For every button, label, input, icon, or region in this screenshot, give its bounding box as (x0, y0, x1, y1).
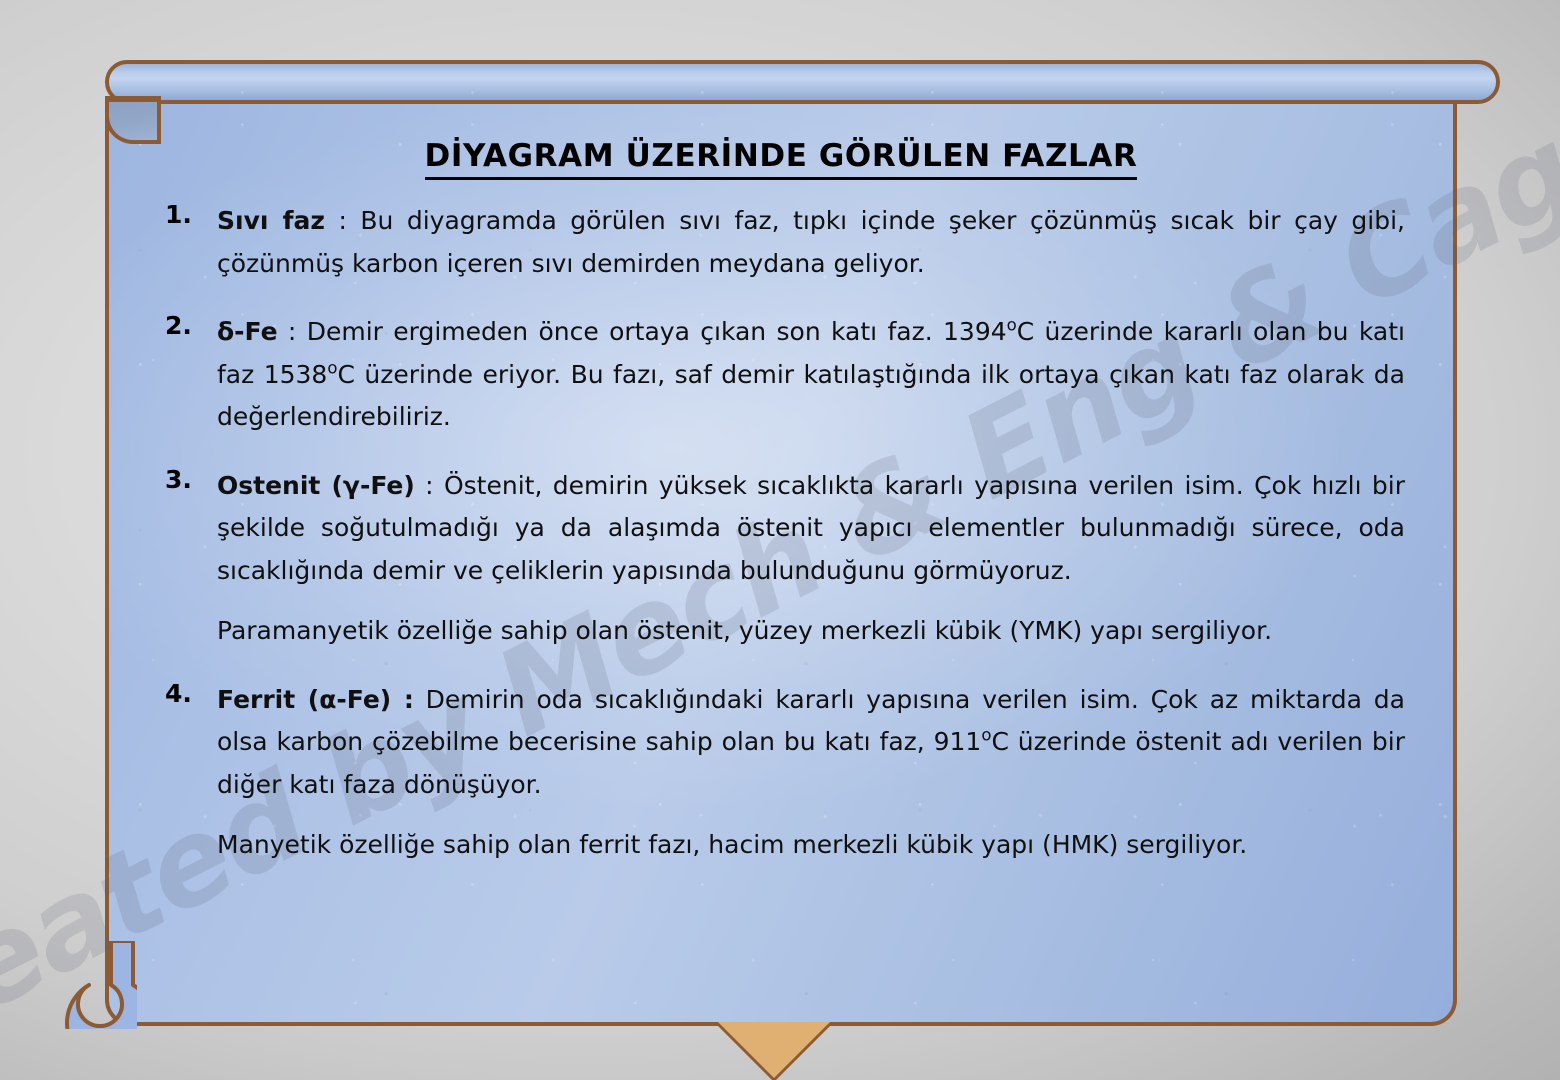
phase-term: δ-Fe (217, 317, 278, 346)
list-item-delta-fe: δ-Fe : Demir ergimeden önce ortaya çıkan… (157, 311, 1405, 439)
degree-symbol: o (1007, 316, 1017, 335)
phase-separator: : (325, 206, 360, 235)
list-item-ostenit: Ostenit (γ-Fe) : Östenit, demirin yüksek… (157, 465, 1405, 653)
degree-symbol: o (981, 726, 991, 745)
phase-list: Sıvı faz : Bu diyagramda görülen sıvı fa… (157, 200, 1405, 867)
bottom-pointer-icon (718, 1022, 830, 1078)
page-title-text: DİYAGRAM ÜZERİNDE GÖRÜLEN FAZLAR (425, 138, 1138, 180)
phase-note: Paramanyetik özelliğe sahip olan östenit… (217, 610, 1405, 653)
phase-body: Bu diyagramda görülen sıvı faz, tıpkı iç… (217, 206, 1405, 278)
phase-paragraph: δ-Fe : Demir ergimeden önce ortaya çıkan… (217, 311, 1405, 439)
list-item-sivi-faz: Sıvı faz : Bu diyagramda görülen sıvı fa… (157, 200, 1405, 285)
page-title: DİYAGRAM ÜZERİNDE GÖRÜLEN FAZLAR (157, 138, 1405, 174)
phase-term: Sıvı faz (217, 206, 325, 235)
phase-separator: : (278, 317, 307, 346)
slide-canvas: Created by Mech & Eng & Caglar DİYAGRAM … (0, 0, 1560, 1080)
phase-body-part-3: C üzerinde eriyor. Bu fazı, saf demir ka… (217, 360, 1405, 432)
phase-separator: : (415, 471, 444, 500)
degree-symbol: o (327, 358, 337, 377)
phase-paragraph: Ostenit (γ-Fe) : Östenit, demirin yüksek… (217, 465, 1405, 593)
slide-content: DİYAGRAM ÜZERİNDE GÖRÜLEN FAZLAR Sıvı fa… (105, 96, 1457, 1026)
phase-paragraph: Sıvı faz : Bu diyagramda görülen sıvı fa… (217, 200, 1405, 285)
phase-term: Ferrit (α-Fe) : (217, 685, 414, 714)
list-item-ferrit: Ferrit (α-Fe) : Demirin oda sıcaklığında… (157, 679, 1405, 867)
phase-body-part-1: Demir ergimeden önce ortaya çıkan son ka… (307, 317, 1007, 346)
phase-paragraph: Ferrit (α-Fe) : Demirin oda sıcaklığında… (217, 679, 1405, 807)
phase-term: Ostenit (γ-Fe) (217, 471, 415, 500)
phase-note: Manyetik özelliğe sahip olan ferrit fazı… (217, 824, 1405, 867)
phase-separator (414, 685, 426, 714)
